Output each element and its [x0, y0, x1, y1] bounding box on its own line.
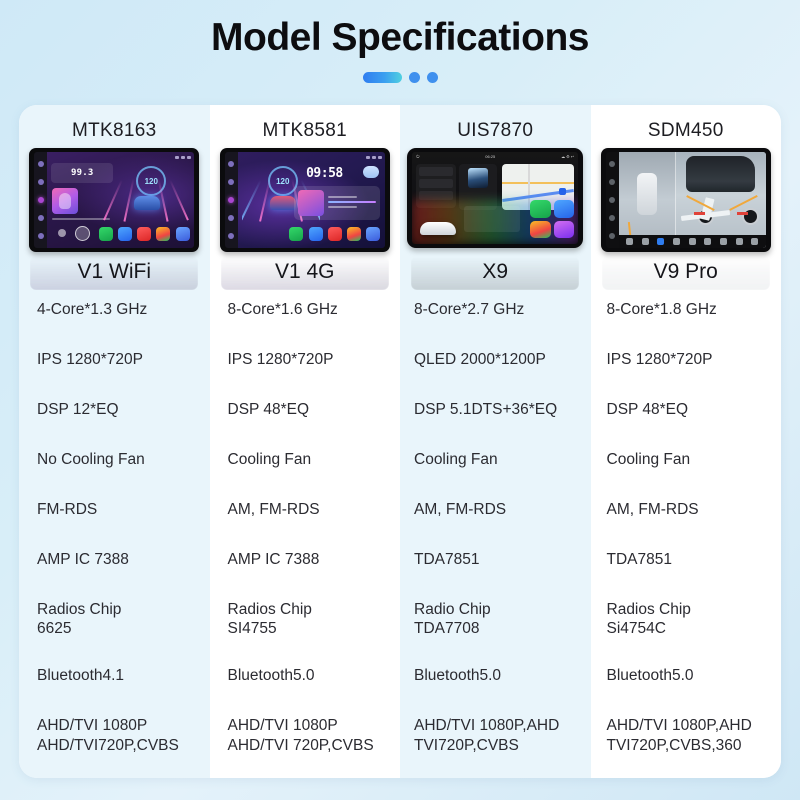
battery-icon — [187, 156, 191, 159]
pagination-active-pill[interactable] — [363, 72, 402, 83]
music-icon — [328, 227, 342, 241]
specifications-page: Model Specifications MTK8163 — [0, 0, 800, 800]
chipset-name: MTK8581 — [210, 105, 401, 142]
spec-cpu: 8-Core*1.8 GHz — [607, 300, 768, 322]
status-icons: ☁ ⚙ ↩ — [561, 154, 574, 159]
nav-icon — [228, 161, 234, 167]
wheel-graphic — [742, 208, 759, 225]
nav-icon — [609, 161, 615, 167]
album-art — [52, 188, 78, 214]
top-down-view — [619, 152, 676, 248]
track-title-placeholder — [328, 196, 357, 198]
head-unit-frame — [601, 148, 771, 252]
spec-cpu: 4-Core*1.3 GHz — [37, 300, 196, 322]
spec-amp-ic: TDA7851 — [414, 550, 577, 572]
page-title: Model Specifications — [0, 0, 800, 60]
apps-icon — [609, 197, 615, 203]
spec-camera-input: AHD/TVI 1080P,AHD TVI720P,CVBS — [414, 716, 577, 754]
spec-cooling: Cooling Fan — [607, 450, 768, 472]
wide-view-button[interactable] — [720, 238, 727, 245]
spec-camera-input: AHD/TVI 1080P,AHD TVI720P,CVBS,360 — [607, 716, 768, 754]
pagination-dot-2[interactable] — [409, 72, 420, 83]
model-name: V1 WiFi — [19, 258, 210, 286]
spec-radio-chip: Radio Chip TDA7708 — [414, 600, 577, 638]
camera-settings-button[interactable] — [751, 238, 758, 245]
app-shortcut-bar — [287, 223, 383, 245]
head-unit-screen — [606, 152, 766, 248]
spec-bluetooth: Bluetooth5.0 — [414, 666, 577, 688]
chipset-name: MTK8163 — [19, 105, 210, 142]
camera-icon — [38, 215, 44, 221]
clock-label: 06:25 — [485, 154, 495, 159]
spec-dsp: DSP 48*EQ — [228, 400, 387, 422]
driving-ui: 09:58 120 — [238, 152, 385, 248]
spec-list: 8-Core*2.7 GHz QLED 2000*1200P DSP 5.1DT… — [400, 300, 591, 755]
distance-marker — [694, 212, 705, 215]
specs-comparison-card: MTK8163 — [19, 105, 781, 778]
spec-column-sdm450[interactable]: SDM450 — [591, 105, 782, 778]
model-name: V9 Pro — [591, 258, 782, 286]
music-icon — [137, 227, 151, 241]
vehicle-stats-widget — [464, 206, 520, 232]
power-icon: ⏻ — [416, 154, 419, 159]
spec-display: IPS 1280*720P — [37, 350, 196, 372]
qled-home-ui: ⏻ 06:25 ☁ ⚙ ↩ — [412, 152, 578, 244]
album-art — [468, 168, 488, 188]
carlink-row — [419, 179, 453, 188]
chipset-name: UIS7870 — [400, 105, 591, 142]
carousel-pagination[interactable] — [0, 71, 800, 83]
app-shortcut-grid — [530, 200, 574, 238]
weather-icon — [363, 166, 379, 178]
chipset-name: SDM450 — [591, 105, 782, 142]
lane-line — [259, 178, 271, 221]
recorder-row — [419, 191, 453, 200]
right-camera-button[interactable] — [673, 238, 680, 245]
spec-display: IPS 1280*720P — [607, 350, 768, 372]
settings-app-icon — [176, 227, 190, 241]
home-icon — [228, 233, 234, 239]
album-art — [298, 190, 324, 216]
settings-icon — [228, 179, 234, 185]
spec-bluetooth: Bluetooth5.0 — [607, 666, 768, 688]
lane-line — [169, 179, 189, 220]
battery-icon — [378, 156, 382, 159]
spec-radio-band: AM, FM-RDS — [607, 500, 768, 522]
app-shortcut-bar — [96, 223, 192, 245]
spec-dsp: DSP 5.1DTS+36*EQ — [414, 400, 577, 422]
android-auto-icon — [554, 200, 575, 218]
wifi-icon — [181, 156, 185, 159]
lane-line — [124, 178, 135, 221]
lane-line — [103, 179, 123, 220]
spec-column-mtk8581[interactable]: MTK8581 — [210, 105, 401, 778]
spec-dsp: DSP 12*EQ — [37, 400, 196, 422]
car-graphic — [420, 222, 456, 235]
camera-360-ui — [619, 152, 766, 248]
rear-camera-view — [676, 152, 766, 248]
bluetooth-row — [419, 167, 453, 176]
lane-line — [242, 180, 262, 220]
home-icon — [609, 233, 615, 239]
settings-app-icon — [366, 227, 380, 241]
camera-icon — [609, 215, 615, 221]
android-auto-icon — [309, 227, 323, 241]
left-camera-button[interactable] — [642, 238, 649, 245]
maps-icon — [347, 227, 361, 241]
car-graphic — [134, 196, 160, 210]
head-unit-frame: ⏻ 06:25 ☁ ⚙ ↩ — [407, 148, 583, 248]
maps-icon — [530, 221, 551, 239]
spec-radio-band: AM, FM-RDS — [228, 500, 387, 522]
settings-icon — [609, 179, 615, 185]
calibration-button[interactable] — [736, 238, 743, 245]
play-pause-icon — [75, 226, 90, 241]
spec-list: 8-Core*1.6 GHz IPS 1280*720P DSP 48*EQ C… — [210, 300, 401, 755]
spec-bluetooth: Bluetooth4.1 — [37, 666, 196, 688]
spec-display: QLED 2000*1200P — [414, 350, 577, 372]
apps-icon — [228, 197, 234, 203]
road-animation: 120 — [98, 160, 194, 222]
detected-vehicle — [686, 156, 755, 192]
distance-marker — [737, 212, 748, 215]
page-header: Model Specifications — [0, 0, 800, 105]
spec-cooling: No Cooling Fan — [37, 450, 196, 472]
settings-icon — [38, 179, 44, 185]
rear-camera-button[interactable] — [689, 238, 696, 245]
map-pin-icon — [559, 188, 566, 195]
spec-display: IPS 1280*720P — [228, 350, 387, 372]
previous-icon — [58, 229, 66, 237]
spec-list: 4-Core*1.3 GHz IPS 1280*720P DSP 12*EQ N… — [19, 300, 210, 755]
head-unit-screen: 99.3 120 — [34, 152, 194, 248]
spec-amp-ic: AMP IC 7388 — [37, 550, 196, 572]
spec-radio-chip: Radios Chip SI4755 — [228, 600, 387, 638]
music-player-widget — [294, 186, 380, 220]
head-unit-frame: 09:58 120 — [220, 148, 390, 252]
status-bar: ⏻ 06:25 ☁ ⚙ ↩ — [412, 152, 578, 161]
android-auto-icon — [118, 227, 132, 241]
carplay-icon — [289, 227, 303, 241]
model-name: X9 — [400, 258, 591, 286]
car-top-view-graphic — [637, 173, 657, 215]
sidebar-rail-icons — [225, 152, 238, 248]
head-unit-frame: 99.3 120 — [29, 148, 199, 252]
signal-icon — [175, 156, 179, 159]
spec-camera-input: AHD/TVI 1080P AHD/TVI 720P,CVBS — [228, 716, 387, 754]
spec-cooling: Cooling Fan — [414, 450, 577, 472]
camera-icon — [228, 215, 234, 221]
sidebar-rail-icons — [606, 152, 619, 248]
carplay-icon — [99, 227, 113, 241]
home-icon — [38, 233, 44, 239]
spec-list: 8-Core*1.8 GHz IPS 1280*720P DSP 48*EQ C… — [591, 300, 782, 755]
spec-column-mtk8163[interactable]: MTK8163 — [19, 105, 210, 778]
assistant-icon — [554, 221, 575, 239]
map-road — [502, 182, 574, 184]
maps-icon — [156, 227, 170, 241]
360-view-button[interactable] — [657, 238, 664, 245]
spec-cpu: 8-Core*2.7 GHz — [414, 300, 577, 322]
track-progress-bar — [328, 201, 376, 203]
spec-cpu: 8-Core*1.6 GHz — [228, 300, 387, 322]
spec-bluetooth: Bluetooth5.0 — [228, 666, 387, 688]
head-unit-screen: ⏻ 06:25 ☁ ⚙ ↩ — [412, 152, 578, 244]
track-info — [328, 196, 376, 211]
car-graphic — [270, 196, 296, 210]
nav-icon — [38, 161, 44, 167]
driving-ui: 99.3 120 — [47, 152, 194, 248]
camera-mode-toolbar[interactable] — [619, 235, 766, 248]
spec-radio-chip: Radios Chip Si4754C — [607, 600, 768, 638]
spec-dsp: DSP 48*EQ — [607, 400, 768, 422]
front-camera-button[interactable] — [626, 238, 633, 245]
apps-icon — [38, 197, 44, 203]
wifi-icon — [372, 156, 376, 159]
signal-icon — [366, 156, 370, 159]
spec-amp-ic: TDA7851 — [607, 550, 768, 572]
carplay-icon — [530, 200, 551, 218]
sidebar-rail-icons — [34, 152, 47, 248]
head-unit-screen: 09:58 120 — [225, 152, 385, 248]
track-artist-placeholder — [328, 206, 357, 208]
spec-radio-chip: Radios Chip 6625 — [37, 600, 196, 638]
pagination-dot-3[interactable] — [427, 72, 438, 83]
model-name: V1 4G — [210, 258, 401, 286]
spec-camera-input: AHD/TVI 1080P AHD/TVI720P,CVBS — [37, 716, 196, 754]
split-view-button[interactable] — [704, 238, 711, 245]
spec-cooling: Cooling Fan — [228, 450, 387, 472]
spec-amp-ic: AMP IC 7388 — [228, 550, 387, 572]
spec-radio-band: AM, FM-RDS — [414, 500, 577, 522]
spec-radio-band: FM-RDS — [37, 500, 196, 522]
spec-column-uis7870[interactable]: UIS7870 ⏻ 06:25 ☁ ⚙ ↩ — [400, 105, 591, 778]
